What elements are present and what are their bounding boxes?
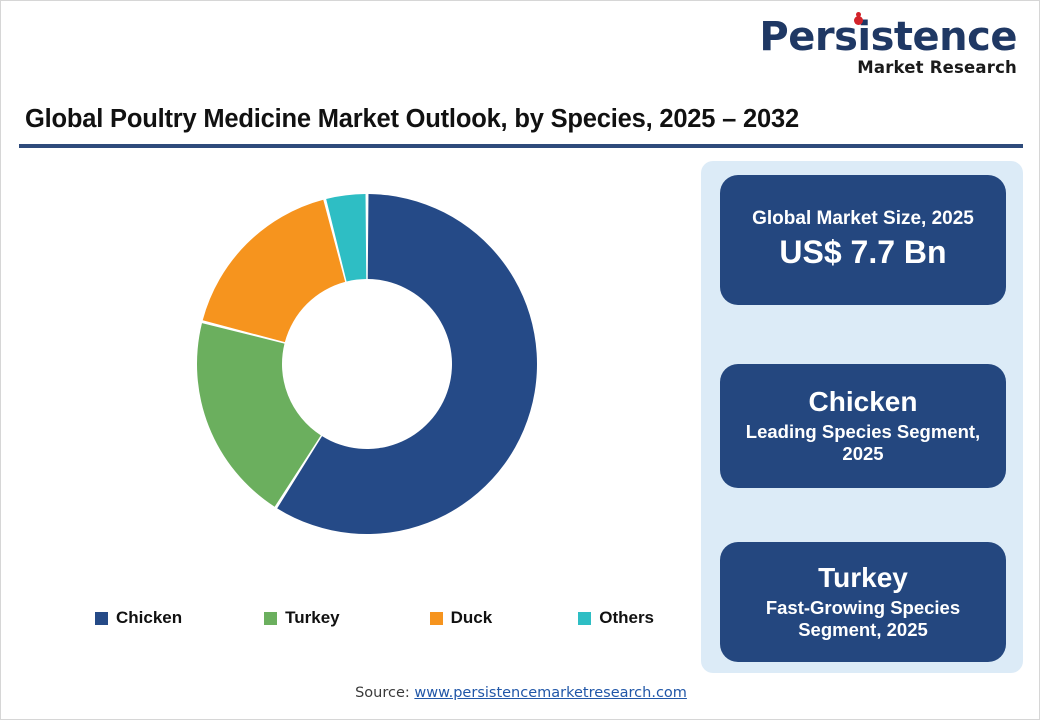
market-size-label: Global Market Size, 2025 bbox=[752, 208, 974, 231]
donut-slice-duck[interactable] bbox=[203, 200, 345, 342]
legend-item-others[interactable]: Others bbox=[578, 608, 654, 628]
title-divider bbox=[19, 144, 1023, 148]
infographic-page: Persistence Market Research Global Poult… bbox=[0, 0, 1040, 720]
chart-legend: Chicken Turkey Duck Others bbox=[19, 601, 679, 635]
legend-label-others: Others bbox=[599, 608, 654, 628]
legend-label-duck: Duck bbox=[451, 608, 493, 628]
legend-item-chicken[interactable]: Chicken bbox=[95, 608, 182, 628]
leading-segment-subtitle: Leading Species Segment, 2025 bbox=[734, 421, 992, 466]
fastest-segment-subtitle: Fast-Growing Species Segment, 2025 bbox=[734, 597, 992, 642]
market-size-value: US$ 7.7 Bn bbox=[779, 232, 946, 272]
donut-chart-svg bbox=[194, 191, 540, 537]
fastest-segment-title: Turkey bbox=[818, 562, 908, 594]
logo-subtitle: Market Research bbox=[759, 60, 1017, 77]
legend-item-duck[interactable]: Duck bbox=[430, 608, 493, 628]
legend-swatch-chicken bbox=[95, 612, 108, 625]
stat-card-market-size: Global Market Size, 2025 US$ 7.7 Bn bbox=[720, 175, 1006, 305]
legend-swatch-duck bbox=[430, 612, 443, 625]
chart-area bbox=[19, 161, 679, 581]
legend-item-turkey[interactable]: Turkey bbox=[264, 608, 340, 628]
logo-brand-label: Persistence bbox=[759, 14, 1017, 60]
donut-chart bbox=[194, 191, 540, 537]
stat-card-fastest-segment: Turkey Fast-Growing Species Segment, 202… bbox=[720, 542, 1006, 662]
donut-slice-group bbox=[197, 194, 537, 534]
logo-brand-text: Persistence bbox=[759, 17, 1017, 57]
stats-panel: Global Market Size, 2025 US$ 7.7 Bn Chic… bbox=[701, 161, 1023, 673]
legend-swatch-others bbox=[578, 612, 591, 625]
legend-label-chicken: Chicken bbox=[116, 608, 182, 628]
source-line: Source: www.persistencemarketresearch.co… bbox=[1, 685, 1040, 701]
page-title: Global Poultry Medicine Market Outlook, … bbox=[25, 105, 1000, 134]
leading-segment-title: Chicken bbox=[809, 386, 918, 418]
source-link[interactable]: www.persistencemarketresearch.com bbox=[414, 685, 687, 701]
legend-label-turkey: Turkey bbox=[285, 608, 340, 628]
stat-card-leading-segment: Chicken Leading Species Segment, 2025 bbox=[720, 364, 1006, 488]
legend-swatch-turkey bbox=[264, 612, 277, 625]
source-prefix: Source: bbox=[355, 685, 414, 701]
company-logo: Persistence Market Research bbox=[759, 17, 1017, 77]
